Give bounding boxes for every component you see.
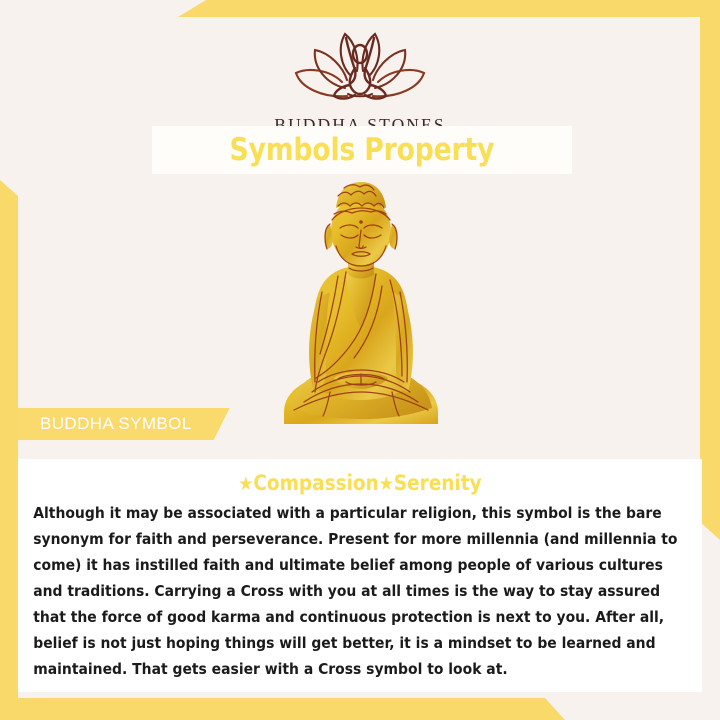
card-headline: ★Compassion★Serenity	[66, 471, 654, 495]
star-icon-two: ★	[379, 473, 394, 495]
headline-word-compassion: Compassion	[253, 471, 378, 495]
top-yellow-band	[178, 0, 720, 17]
poster-canvas: BUDDHA STONES Symbols Property	[0, 0, 720, 720]
buddha-symbol-tag-label: BUDDHA SYMBOL	[40, 414, 192, 434]
star-icon-one: ★	[238, 473, 253, 495]
lotus-meditation-icon	[0, 26, 720, 109]
bottom-yellow-band	[0, 698, 565, 720]
left-yellow-strip	[0, 180, 18, 703]
page-title: Symbols Property	[230, 132, 495, 168]
buddha-symbol-tag: BUDDHA SYMBOL	[18, 408, 230, 440]
card-body-text: Although it may be associated with a par…	[26, 500, 691, 682]
brand-logo-block: BUDDHA STONES	[0, 26, 720, 136]
seated-golden-buddha-illustration	[268, 176, 454, 428]
content-card: ★Compassion★Serenity Although it may be …	[18, 459, 702, 692]
headline-word-serenity: Serenity	[394, 471, 482, 495]
title-banner: Symbols Property	[152, 126, 572, 174]
